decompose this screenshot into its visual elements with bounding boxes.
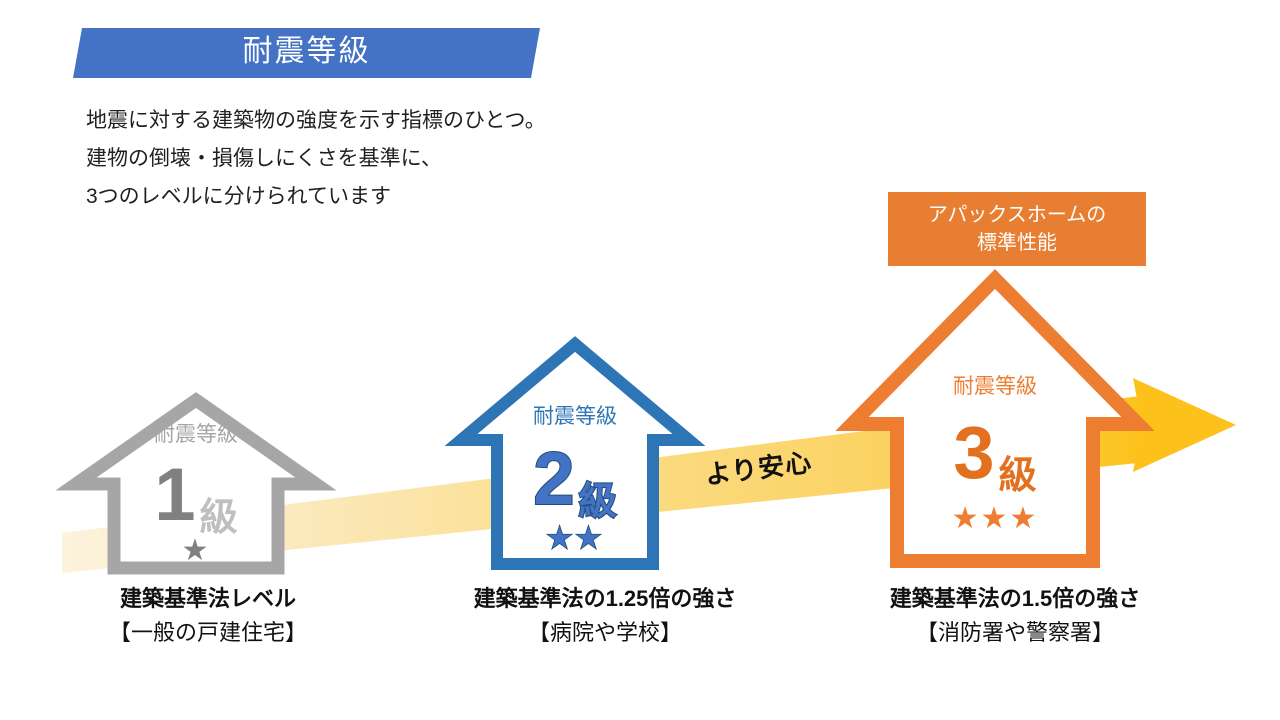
intro-line-2: 建物の倒壊・損傷しにくさを基準に、 xyxy=(86,140,786,178)
caption-sub-3: 【消防署や警察署】 xyxy=(825,615,1205,651)
caption-grade-1: 建築基準法レベル 【一般の戸建住宅】 xyxy=(18,583,398,651)
callout-line-1: アパックスホームの xyxy=(928,201,1106,229)
intro-line-3: 3つのレベルに分けられています xyxy=(86,178,786,216)
house-outline-grade-2 xyxy=(455,338,695,570)
infographic-canvas: 耐震等級 地震に対する建築物の強度を示す指標のひとつ。 建物の倒壊・損傷しにくさ… xyxy=(0,0,1280,720)
page-title: 耐震等級 xyxy=(243,37,371,69)
house-outline-grade-3 xyxy=(845,272,1145,568)
intro-line-1: 地震に対する建築物の強度を示す指標のひとつ。 xyxy=(86,102,786,140)
page-title-banner: 耐震等級 xyxy=(73,28,540,78)
band-label: より安心 xyxy=(703,442,814,492)
house-grade-3: 耐震等級 3級 ★★★ xyxy=(845,272,1145,568)
standard-performance-callout: アパックスホームの 標準性能 xyxy=(888,192,1146,266)
caption-main-2: 建築基準法の1.25倍の強さ xyxy=(415,583,795,615)
caption-sub-1: 【一般の戸建住宅】 xyxy=(18,615,398,651)
caption-sub-2: 【病院や学校】 xyxy=(415,615,795,651)
caption-grade-3: 建築基準法の1.5倍の強さ 【消防署や警察署】 xyxy=(825,583,1205,651)
house-outline-grade-1 xyxy=(72,396,320,572)
caption-main-1: 建築基準法レベル xyxy=(18,583,398,615)
house-grade-2: 耐震等級 2級 ★★ xyxy=(455,338,695,570)
intro-paragraph: 地震に対する建築物の強度を示す指標のひとつ。 建物の倒壊・損傷しにくさを基準に、… xyxy=(86,102,786,216)
caption-main-3: 建築基準法の1.5倍の強さ xyxy=(825,583,1205,615)
callout-line-2: 標準性能 xyxy=(977,229,1057,257)
house-grade-1: 耐震等級 1級 ★ xyxy=(72,396,320,572)
caption-grade-2: 建築基準法の1.25倍の強さ 【病院や学校】 xyxy=(415,583,795,651)
